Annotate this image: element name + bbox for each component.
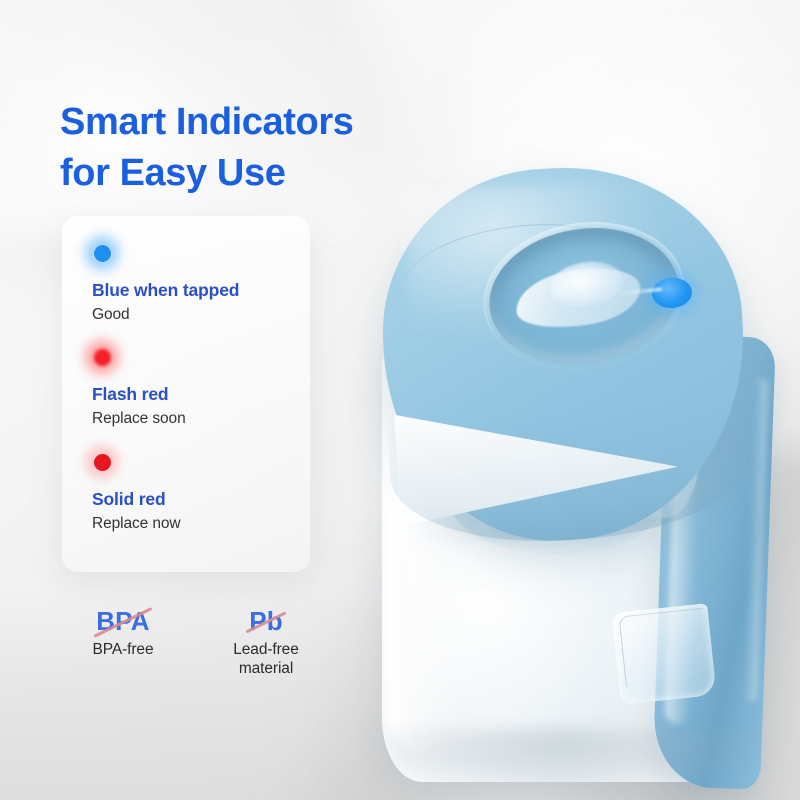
headline-line-2: for Easy Use bbox=[60, 148, 490, 198]
headline-line-1: Smart Indicators bbox=[60, 101, 353, 143]
badge-bpa-free: BPA BPA-free bbox=[68, 604, 178, 659]
indicator-title: Solid red bbox=[92, 489, 310, 510]
page-title: Smart Indicators for Easy Use bbox=[60, 97, 490, 197]
indicator-subtitle: Replace now bbox=[92, 514, 310, 533]
indicator-item-flash-red: Flash red Replace soon bbox=[92, 348, 310, 428]
pitcher-grip-outline bbox=[619, 608, 711, 687]
badge-lead-free: Pb Lead-free material bbox=[206, 604, 326, 679]
led-blue-icon bbox=[94, 245, 111, 262]
indicator-title: Blue when tapped bbox=[92, 280, 310, 301]
indicator-item-solid-red: Solid red Replace now bbox=[92, 453, 310, 533]
indicator-subtitle: Replace soon bbox=[92, 409, 310, 428]
indicator-dot-wrap bbox=[92, 453, 126, 479]
pitcher-ground-shadow bbox=[370, 730, 750, 800]
pitcher-lid bbox=[375, 159, 754, 549]
indicator-item-blue: Blue when tapped Good bbox=[92, 244, 310, 324]
badge-label: Lead-free material bbox=[206, 640, 326, 679]
indicator-subtitle: Good bbox=[92, 305, 310, 324]
pb-crossed-out-icon: Pb bbox=[249, 604, 283, 638]
bpa-crossed-out-icon: BPA bbox=[96, 604, 150, 638]
indicator-legend-card: Blue when tapped Good Flash red Replace … bbox=[62, 216, 310, 572]
indicator-dot-wrap bbox=[92, 244, 126, 270]
badge-label: BPA-free bbox=[68, 640, 178, 659]
led-solid-red-icon bbox=[94, 454, 111, 471]
product-feature-image: Smart Indicators for Easy Use Blue when … bbox=[0, 0, 800, 800]
indicator-title: Flash red bbox=[92, 384, 310, 405]
indicator-dot-wrap bbox=[92, 348, 126, 374]
